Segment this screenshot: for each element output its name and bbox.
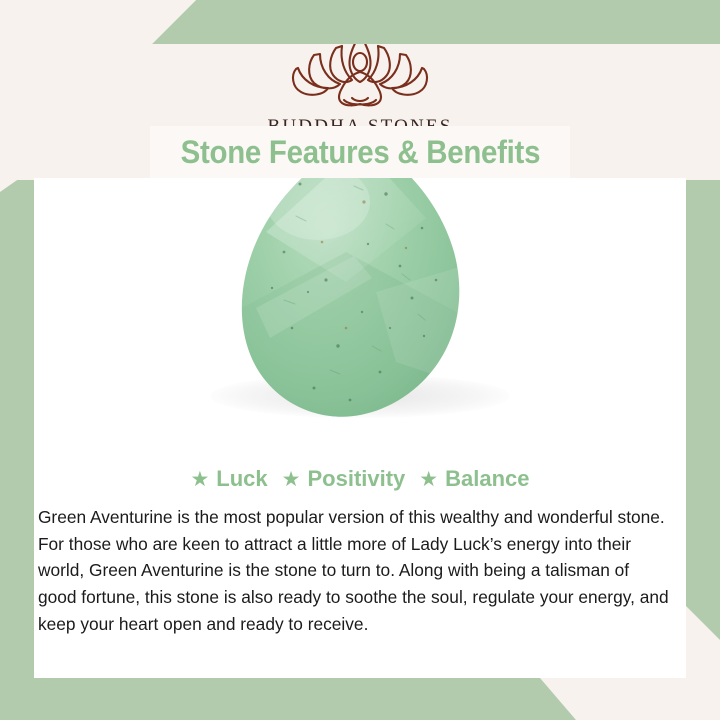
frame-left-strip (0, 178, 34, 720)
feature-label: Positivity (307, 466, 405, 492)
feature-item: ★ Balance (419, 466, 529, 492)
frame-bottom-band (0, 678, 576, 720)
star-icon: ★ (190, 469, 209, 490)
feature-label: Balance (445, 466, 529, 492)
title-banner: Stone Features & Benefits (150, 126, 570, 178)
feature-list: ★ Luck ★ Positivity ★ Balance (34, 466, 686, 492)
star-icon: ★ (419, 469, 438, 490)
feature-label: Luck (216, 466, 267, 492)
stone-description: Green Aventurine is the most popular ver… (34, 504, 676, 638)
content-body: ★ Luck ★ Positivity ★ Balance Green Aven… (34, 440, 686, 678)
green-aventurine-stone-image (226, 178, 494, 432)
feature-item: ★ Luck (190, 466, 267, 492)
feature-item: ★ Positivity (282, 466, 406, 492)
page-title: Stone Features & Benefits (180, 134, 540, 171)
stone-info-card: BUDDHA STONES Stone Features & Benefits (0, 0, 720, 720)
star-icon: ★ (282, 469, 301, 490)
stone-photo: Green Aventurine (34, 178, 686, 440)
